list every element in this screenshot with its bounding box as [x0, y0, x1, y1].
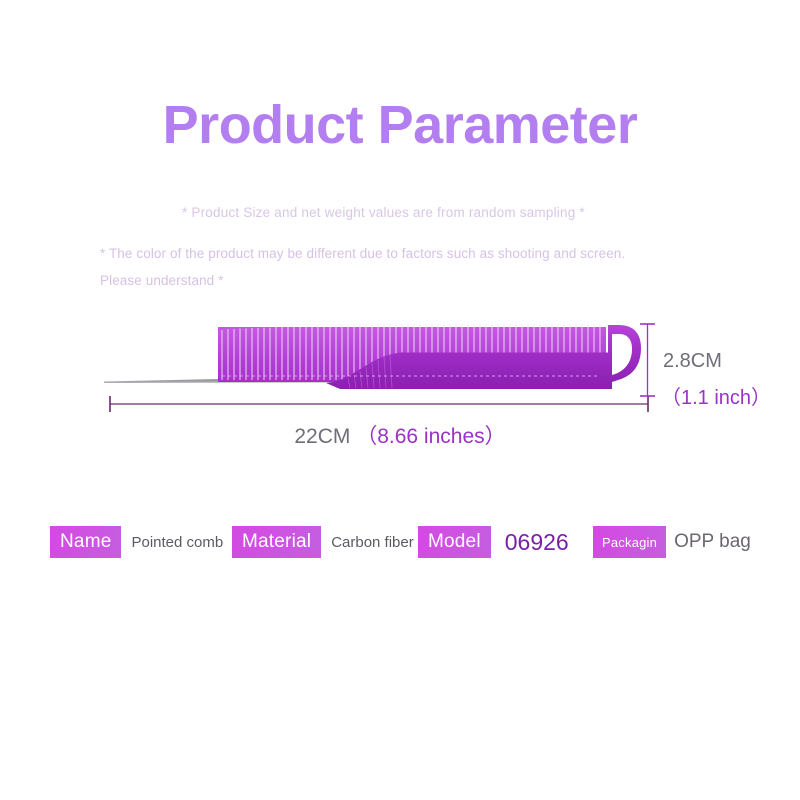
spec-label-packaging: Packagin — [593, 526, 666, 558]
note-random-sampling: * Product Size and net weight values are… — [182, 205, 585, 220]
length-inches: （8.66 inches） — [356, 425, 505, 448]
height-cm: 2.8CM — [663, 350, 722, 373]
spec-label-name: Name — [50, 526, 121, 558]
length-dimension-line — [108, 392, 650, 414]
page-title: Product Parameter — [0, 94, 800, 156]
spec-item-name: Name Pointed comb — [50, 524, 223, 560]
height-dimension-line — [638, 322, 658, 398]
spec-value-model: 06926 — [505, 529, 569, 556]
spec-value-material: Carbon fiber — [331, 534, 414, 551]
product-image — [100, 310, 660, 405]
spec-label-model: Model — [418, 526, 491, 558]
spec-item-packaging: Packagin OPP bag — [593, 524, 751, 560]
spec-item-model: Model 06926 — [418, 524, 569, 560]
height-inches: （1.1 inch） — [661, 381, 771, 410]
length-label: 22CM （8.66 inches） — [0, 420, 800, 450]
spec-value-packaging: OPP bag — [674, 531, 751, 553]
note-color-disclaimer: * The color of the product may be differ… — [100, 240, 645, 294]
spec-item-material: Material Carbon fiber — [232, 524, 414, 560]
length-cm: 22CM — [294, 425, 350, 448]
spec-table: Name Pointed comb Material Carbon fiber … — [0, 524, 800, 564]
spec-label-material: Material — [232, 526, 321, 558]
spec-value-name: Pointed comb — [131, 534, 223, 551]
comb-illustration — [100, 310, 660, 405]
